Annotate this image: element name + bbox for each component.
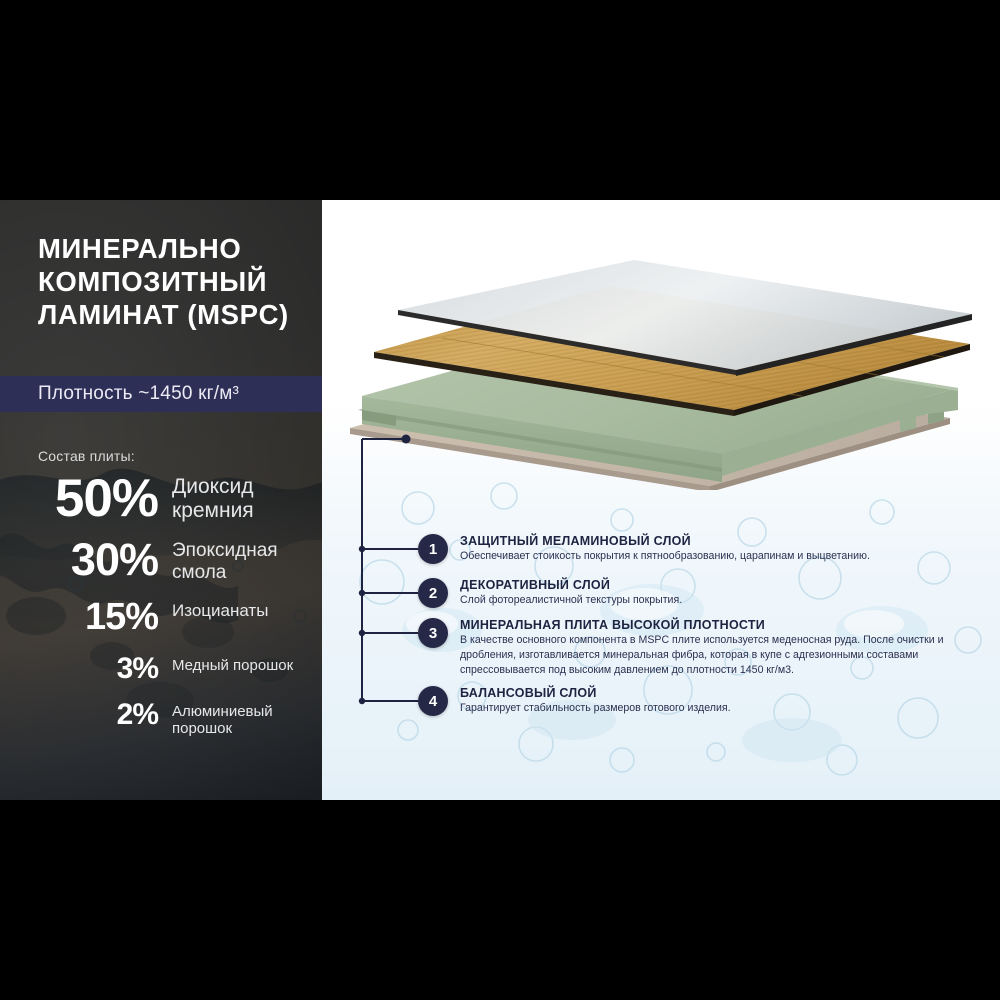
layer-title-3: МИНЕРАЛЬНАЯ ПЛИТА ВЫСОКОЙ ПЛОТНОСТИ <box>460 618 980 632</box>
layer-badge-1: 1 <box>418 534 448 564</box>
list-item: 30% Эпоксидная смола <box>0 537 322 584</box>
composition-percent: 30% <box>0 537 172 582</box>
list-item: 3% Медный порошок <box>0 654 322 684</box>
composition-percent: 15% <box>0 598 172 636</box>
composition-percent: 50% <box>0 472 172 525</box>
composition-name: Медный порошок <box>172 654 297 674</box>
list-item: 2% Алюминиевый порошок <box>0 700 322 738</box>
layer-badge-4: 4 <box>418 686 448 716</box>
layer-desc-1: Обеспечивает стоикость покрытия к пятноо… <box>460 549 965 564</box>
list-item: 50% Диоксид кремния <box>0 472 322 525</box>
list-item: 15% Изоцианаты <box>0 598 322 636</box>
layer-desc-3: В качестве основного компонента в MSPC п… <box>460 633 980 678</box>
layer-desc-4: Гарантирует стабильность размеров готово… <box>460 701 965 716</box>
content-band: МИНЕРАЛЬНО КОМПОЗИТНЫЙ ЛАМИНАТ (MSPC) Пл… <box>0 200 1000 800</box>
left-info-panel: МИНЕРАЛЬНО КОМПОЗИТНЫЙ ЛАМИНАТ (MSPC) Пл… <box>0 200 322 800</box>
right-diagram-panel: 1 ЗАЩИТНЫЙ МЕЛАМИНОВЫЙ СЛОЙ Обеспечивает… <box>322 200 1000 800</box>
layer-badge-3: 3 <box>418 618 448 648</box>
layer-item-4: 4 БАЛАНСОВЫЙ СЛОЙ Гарантирует стабильнос… <box>418 686 965 716</box>
composition-name: Диоксид кремния <box>172 472 292 524</box>
composition-name: Изоцианаты <box>172 598 297 621</box>
layer-title-4: БАЛАНСОВЫЙ СЛОЙ <box>460 686 965 700</box>
layer-title-2: ДЕКОРАТИВНЫЙ СЛОЙ <box>460 578 965 592</box>
density-value: Плотность ~1450 кг/м³ <box>0 383 239 405</box>
layer-badge-2: 2 <box>418 578 448 608</box>
composition-list: 50% Диоксид кремния 30% Эпоксидная смола… <box>0 472 322 744</box>
density-banner: Плотность ~1450 кг/м³ <box>0 376 322 412</box>
composition-name: Алюминиевый порошок <box>172 700 304 738</box>
composition-name: Эпоксидная смола <box>172 537 297 584</box>
composition-percent: 3% <box>0 654 172 684</box>
pointer-dot <box>402 435 411 444</box>
infographic-canvas: МИНЕРАЛЬНО КОМПОЗИТНЫЙ ЛАМИНАТ (MSPC) Пл… <box>0 0 1000 1000</box>
composition-label: Состав плиты: <box>38 448 135 464</box>
page-title: МИНЕРАЛЬНО КОМПОЗИТНЫЙ ЛАМИНАТ (MSPC) <box>38 232 313 331</box>
layer-desc-2: Слой фотореалистичной текстуры покрытия. <box>460 593 965 608</box>
layer-item-3: 3 МИНЕРАЛЬНАЯ ПЛИТА ВЫСОКОЙ ПЛОТНОСТИ В … <box>418 618 980 678</box>
layer-title-1: ЗАЩИТНЫЙ МЕЛАМИНОВЫЙ СЛОЙ <box>460 534 965 548</box>
layer-item-2: 2 ДЕКОРАТИВНЫЙ СЛОЙ Слой фотореалистично… <box>418 578 965 608</box>
composition-percent: 2% <box>0 700 172 730</box>
layer-item-1: 1 ЗАЩИТНЫЙ МЕЛАМИНОВЫЙ СЛОЙ Обеспечивает… <box>418 534 965 564</box>
